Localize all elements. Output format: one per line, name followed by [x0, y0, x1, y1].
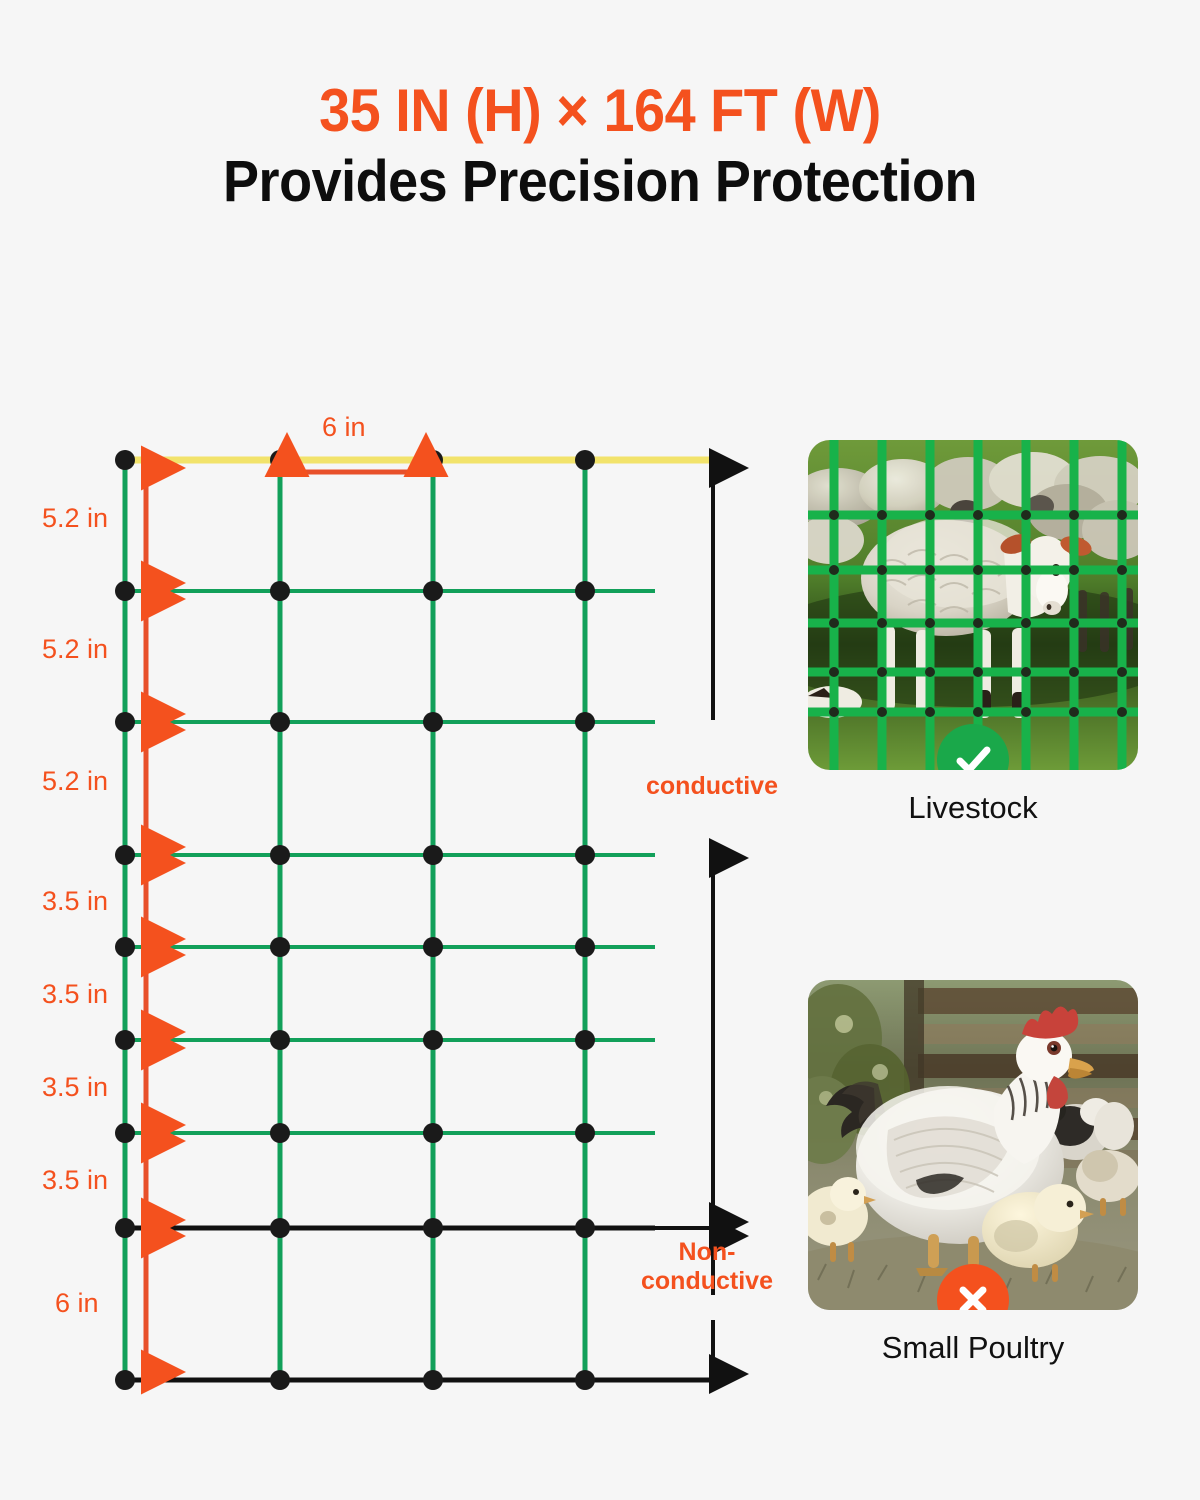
bracket-conductive: [655, 468, 713, 1228]
dim-label-gap-7: 6 in: [55, 1288, 99, 1319]
bracket-label-non-conductive-line2: conductive: [641, 1267, 773, 1295]
dim-label-gap-3: 3.5 in: [42, 886, 108, 917]
dim-label-gap-0: 5.2 in: [42, 503, 108, 534]
dim-label-horizontal-spacing: 6 in: [322, 412, 366, 443]
photo-poultry: [808, 980, 1138, 1310]
dim-label-gap-5: 3.5 in: [42, 1072, 108, 1103]
dim-label-gap-2: 5.2 in: [42, 766, 108, 797]
page-title-dimensions: 35 IN (H) × 164 FT (W): [42, 78, 1158, 144]
card-caption-livestock: Livestock: [808, 790, 1138, 826]
photo-livestock-art: [808, 440, 1138, 770]
bracket-label-non-conductive: Non- conductive: [622, 1238, 792, 1296]
photo-livestock: [808, 440, 1138, 770]
page-title-tagline: Provides Precision Protection: [42, 150, 1158, 214]
cross-icon: [951, 1278, 995, 1310]
card-livestock[interactable]: Livestock: [808, 440, 1138, 826]
dim-label-gap-4: 3.5 in: [42, 979, 108, 1010]
card-caption-poultry: Small Poultry: [808, 1330, 1138, 1366]
page-header: 35 IN (H) × 164 FT (W) Provides Precisio…: [0, 0, 1200, 214]
dim-label-gap-1: 5.2 in: [42, 634, 108, 665]
card-poultry[interactable]: Small Poultry: [808, 980, 1138, 1366]
check-icon: [951, 738, 995, 770]
photo-poultry-art: [808, 980, 1138, 1310]
bracket-label-non-conductive-line1: Non-: [679, 1238, 736, 1266]
mesh-spacing-diagram: 5.2 in 5.2 in 5.2 in 3.5 in 3.5 in 3.5 i…: [0, 390, 800, 1430]
dim-label-gap-6: 3.5 in: [42, 1165, 108, 1196]
bracket-label-conductive: conductive: [632, 772, 792, 801]
